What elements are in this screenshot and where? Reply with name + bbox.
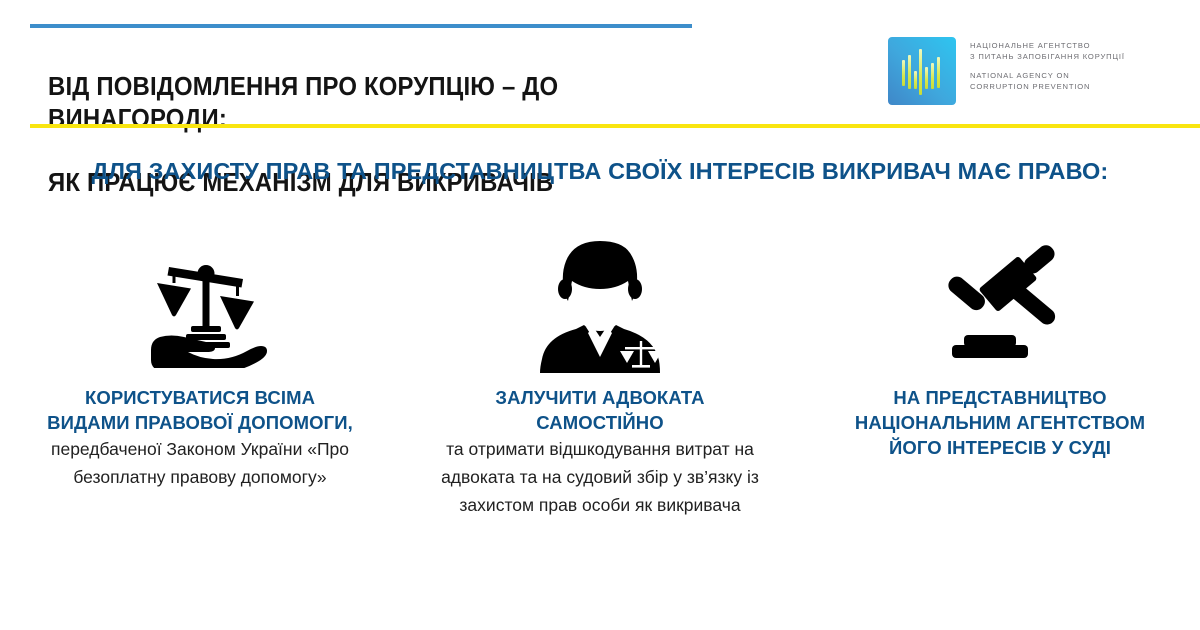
page-title: ВІД ПОВІДОМЛЕННЯ ПРО КОРУПЦІЮ – ДО ВИНАГ…: [48, 38, 692, 230]
logo-text-gap: [970, 63, 1125, 70]
logo-ua-line-1: НАЦІОНАЛЬНЕ АГЕНТСТВО: [970, 40, 1125, 51]
column-own-lawyer-body: ЗАЛУЧИТИ АДВОКАТА САМОСТІЙНО та отримати…: [435, 385, 765, 519]
hand-holding-scales-icon: [131, 225, 269, 385]
logo-en-line-1: NATIONAL AGENCY ON: [970, 70, 1125, 81]
rights-columns: КОРИСТУВАТИСЯ ВСІМА ВИДАМИ ПРАВОВОЇ ДОПО…: [0, 225, 1200, 605]
column-agency-representation-body: НА ПРЕДСТАВНИЦТВО НАЦІОНАЛЬНИМ АГЕНТСТВО…: [820, 385, 1180, 460]
lawyer-person-icon: [532, 225, 668, 385]
logo-en-line-2: CORRUPTION PREVENTION: [970, 81, 1125, 92]
column-legal-aid-heading-line-1: КОРИСТУВАТИСЯ ВСІМА: [25, 385, 375, 410]
column-legal-aid-heading: КОРИСТУВАТИСЯ ВСІМА ВИДАМИ ПРАВОВОЇ ДОПО…: [25, 385, 375, 435]
logo-ua-line-2: З ПИТАНЬ ЗАПОБІГАННЯ КОРУПЦІЇ: [970, 51, 1125, 62]
column-legal-aid-heading-line-2: ВИДАМИ ПРАВОВОЇ ДОПОМОГИ,: [25, 410, 375, 435]
header-top-rule: [30, 24, 692, 28]
column-own-lawyer: ЗАЛУЧИТИ АДВОКАТА САМОСТІЙНО та отримати…: [400, 225, 800, 519]
column-own-lawyer-heading-line-2: САМОСТІЙНО: [435, 410, 765, 435]
column-own-lawyer-heading-line-1: ЗАЛУЧИТИ АДВОКАТА: [435, 385, 765, 410]
column-legal-aid-text: передбаченої Законом України «Про безопл…: [25, 435, 375, 491]
header-bottom-rule: [30, 124, 1200, 128]
section-heading: ДЛЯ ЗАХИСТУ ПРАВ ТА ПРЕДСТАВНИЦТВА СВОЇХ…: [0, 158, 1200, 185]
column-agency-representation-heading-line-2: НАЦІОНАЛЬНИМ АГЕНТСТВОМ: [820, 410, 1180, 435]
column-own-lawyer-text: та отримати відшкодування витрат на адво…: [435, 435, 765, 519]
gavel-icon: [934, 225, 1066, 385]
nazk-waveform-logo-icon: [888, 37, 956, 105]
column-agency-representation-heading-line-1: НА ПРЕДСТАВНИЦТВО: [820, 385, 1180, 410]
column-agency-representation: НА ПРЕДСТАВНИЦТВО НАЦІОНАЛЬНИМ АГЕНТСТВО…: [800, 225, 1200, 460]
column-own-lawyer-heading: ЗАЛУЧИТИ АДВОКАТА САМОСТІЙНО: [435, 385, 765, 435]
column-legal-aid-body: КОРИСТУВАТИСЯ ВСІМА ВИДАМИ ПРАВОВОЇ ДОПО…: [25, 385, 375, 491]
column-agency-representation-heading-line-3: ЙОГО ІНТЕРЕСІВ У СУДІ: [820, 435, 1180, 460]
agency-logo-text: НАЦІОНАЛЬНЕ АГЕНТСТВО З ПИТАНЬ ЗАПОБІГАН…: [970, 37, 1125, 93]
infographic-slide: ВІД ПОВІДОМЛЕННЯ ПРО КОРУПЦІЮ – ДО ВИНАГ…: [0, 0, 1200, 630]
column-agency-representation-heading: НА ПРЕДСТАВНИЦТВО НАЦІОНАЛЬНИМ АГЕНТСТВО…: [820, 385, 1180, 460]
agency-logo: НАЦІОНАЛЬНЕ АГЕНТСТВО З ПИТАНЬ ЗАПОБІГАН…: [888, 37, 1125, 105]
column-legal-aid: КОРИСТУВАТИСЯ ВСІМА ВИДАМИ ПРАВОВОЇ ДОПО…: [0, 225, 400, 491]
